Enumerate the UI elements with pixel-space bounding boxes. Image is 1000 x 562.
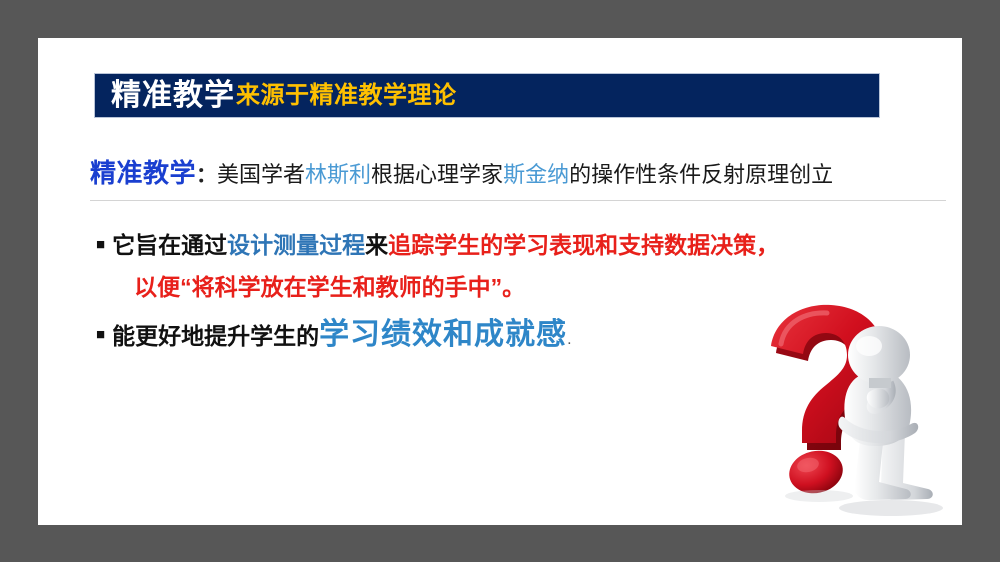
slide-canvas: 精准教学 来源于精准教学理论 精准教学：美国学者林斯利根据心理学家斯金纳的操作性…	[38, 38, 962, 525]
slide-title-banner: 精准教学 来源于精准教学理论	[94, 73, 880, 118]
bullet-square-icon: ■	[96, 226, 105, 264]
definition-person-2: 斯金纳	[503, 162, 569, 187]
horizontal-divider	[90, 200, 946, 201]
bullet-body: 能更好地提升学生的学习绩效和成就感.	[112, 316, 756, 359]
bullet-list: ■ 它旨在通过设计测量过程来追踪学生的学习表现和支持数据决策， 以便“将科学放在…	[96, 226, 756, 365]
title-main-text: 精准教学	[111, 81, 235, 111]
title-sub-text: 来源于精准教学理论	[235, 84, 457, 108]
list-item: ■ 能更好地提升学生的学习绩效和成就感.	[96, 316, 756, 359]
bullet-run: 来	[365, 232, 388, 258]
bullet-run: 它旨在通过	[112, 232, 227, 258]
bullet-run: 设计测量过程	[227, 232, 365, 258]
bullet-line: 能更好地提升学生的学习绩效和成就感.	[112, 316, 756, 359]
bullet-run: 能更好地提升学生的	[112, 323, 319, 349]
bullet-run: .	[567, 331, 571, 348]
question-mark-thinking-person-image	[741, 300, 971, 522]
list-item: ■ 它旨在通过设计测量过程来追踪学生的学习表现和支持数据决策， 以便“将科学放在…	[96, 226, 756, 310]
definition-colon: ：	[196, 164, 217, 187]
bullet-run-highlight: 学习绩效和成就感	[319, 318, 567, 351]
definition-segment-1: 美国学者	[217, 162, 305, 187]
definition-person-1: 林斯利	[305, 162, 371, 187]
presentation-stage: 精准教学 来源于精准教学理论 精准教学：美国学者林斯利根据心理学家斯金纳的操作性…	[0, 0, 1000, 562]
definition-term: 精准教学	[90, 158, 196, 188]
bullet-run: 追踪学生的学习表现和支持数据决策，	[388, 232, 779, 258]
bullet-line: 以便“将科学放在学生和教师的手中”。	[112, 268, 779, 310]
definition-paragraph: 精准教学：美国学者林斯利根据心理学家斯金纳的操作性条件反射原理创立	[90, 156, 952, 191]
definition-segment-3: 的操作性条件反射原理创立	[569, 162, 833, 187]
bullet-line: 它旨在通过设计测量过程来追踪学生的学习表现和支持数据决策，	[112, 226, 779, 268]
bullet-run: 以便“将科学放在学生和教师的手中”。	[134, 274, 525, 300]
bullet-body: 它旨在通过设计测量过程来追踪学生的学习表现和支持数据决策， 以便“将科学放在学生…	[112, 226, 779, 310]
bullet-square-icon: ■	[96, 316, 105, 354]
definition-segment-2: 根据心理学家	[371, 162, 503, 187]
